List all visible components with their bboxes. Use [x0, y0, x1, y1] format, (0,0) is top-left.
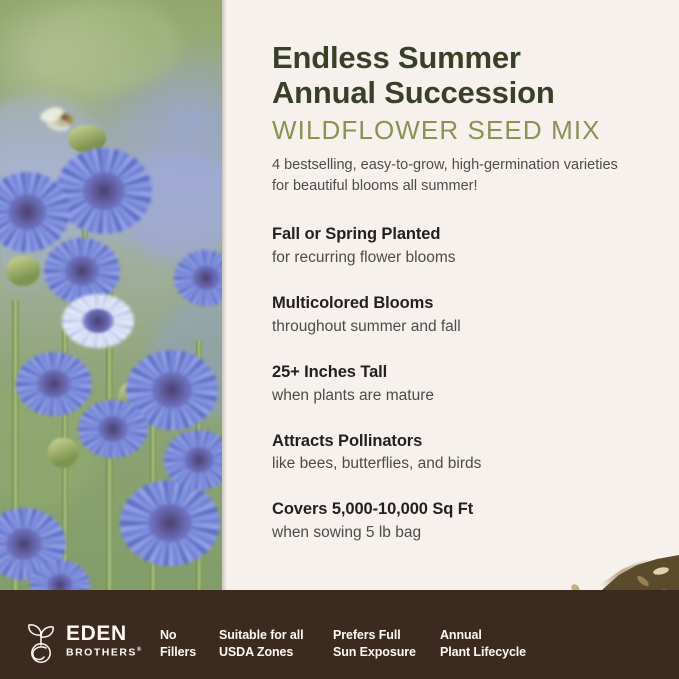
cornflower-photo: [0, 0, 222, 679]
feature-item: Fall or Spring Planted for recurring flo…: [272, 224, 672, 268]
badge-line-2: Fillers: [160, 644, 196, 661]
product-info-panel: Endless Summer Annual Succession WILDFLO…: [272, 0, 672, 605]
badge-line-2: Plant Lifecycle: [440, 644, 526, 661]
cornflower-blossom: [62, 294, 134, 348]
panel-divider: [222, 0, 227, 679]
feature-subtext: when sowing 5 lb bag: [272, 523, 672, 543]
cornflower-blossom: [44, 238, 120, 304]
title-line-2: Annual Succession: [272, 75, 672, 110]
brand-logo[interactable]: EDEN BROTHERS®: [22, 621, 132, 665]
feature-subtext: like bees, butterflies, and birds: [272, 454, 672, 474]
badge-plant-lifecycle: Annual Plant Lifecycle: [440, 627, 526, 662]
cornflower-blossom: [16, 352, 92, 416]
badge-usda-zones: Suitable for all USDA Zones: [219, 627, 304, 662]
sprout-seedling-icon: [22, 622, 60, 664]
feature-item: Covers 5,000-10,000 Sq Ft when sowing 5 …: [272, 499, 672, 543]
bokeh: [40, 0, 180, 90]
badge-line-1: No: [160, 627, 196, 644]
page-title: Endless Summer Annual Succession: [272, 40, 672, 111]
badge-line-2: USDA Zones: [219, 644, 304, 661]
torn-edge: [0, 590, 679, 605]
brand-footer: EDEN BROTHERS® No Fillers Suitable for a…: [0, 603, 679, 679]
product-lede: 4 bestselling, easy-to-grow, high-germin…: [272, 155, 624, 196]
feature-heading: 25+ Inches Tall: [272, 362, 672, 383]
feature-heading: Attracts Pollinators: [272, 431, 672, 452]
feature-subtext: for recurring flower blooms: [272, 248, 672, 268]
badge-sun-exposure: Prefers Full Sun Exposure: [333, 627, 416, 662]
badge-line-1: Prefers Full: [333, 627, 416, 644]
feature-item: Attracts Pollinators like bees, butterfl…: [272, 431, 672, 475]
feature-item: 25+ Inches Tall when plants are mature: [272, 362, 672, 406]
cornflower-blossom: [78, 400, 148, 458]
brand-name: EDEN: [66, 623, 161, 644]
brand-subname: BROTHERS®: [66, 647, 161, 658]
badge-line-1: Suitable for all: [219, 627, 304, 644]
feature-heading: Fall or Spring Planted: [272, 224, 672, 245]
feature-list: Fall or Spring Planted for recurring flo…: [272, 224, 672, 543]
product-infographic: Endless Summer Annual Succession WILDFLO…: [0, 0, 679, 679]
cornflower-blossom: [120, 480, 220, 566]
cornflower-blossom: [56, 148, 152, 234]
stem: [12, 300, 19, 630]
feature-badges: No Fillers Suitable for all USDA Zones P…: [160, 627, 660, 667]
registered-mark: ®: [137, 647, 141, 653]
badge-line-1: Annual: [440, 627, 526, 644]
feature-item: Multicolored Blooms throughout summer an…: [272, 293, 672, 337]
flower-bud: [6, 256, 40, 286]
feature-subtext: when plants are mature: [272, 386, 672, 406]
badge-no-fillers: No Fillers: [160, 627, 196, 662]
product-subtitle: WILDFLOWER SEED MIX: [272, 116, 672, 145]
title-line-1: Endless Summer: [272, 40, 672, 75]
flower-bud: [48, 438, 78, 468]
feature-subtext: throughout summer and fall: [272, 317, 672, 337]
feature-heading: Covers 5,000-10,000 Sq Ft: [272, 499, 672, 520]
feature-heading: Multicolored Blooms: [272, 293, 672, 314]
brand-wordmark: EDEN BROTHERS®: [66, 623, 161, 658]
badge-line-2: Sun Exposure: [333, 644, 416, 661]
